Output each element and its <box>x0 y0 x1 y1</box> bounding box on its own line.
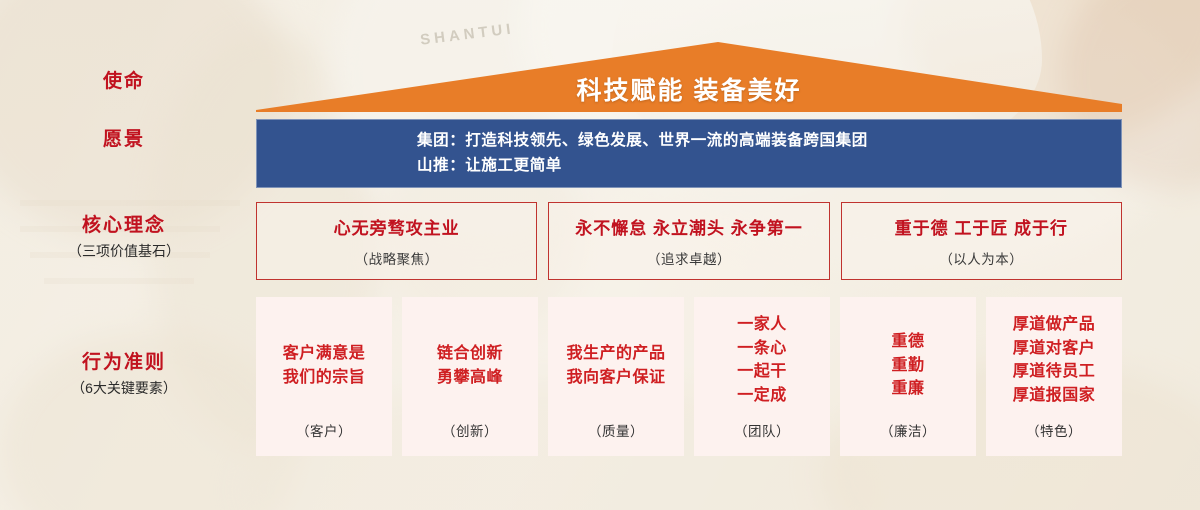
conduct-line: 重廉 <box>891 377 924 401</box>
row-label-conduct-main: 行为准则 <box>6 351 242 375</box>
conduct-line: 厚道报国家 <box>1013 384 1096 408</box>
row-label-vision-main: 愿景 <box>6 128 242 152</box>
conduct-card-subtitle: （客户） <box>296 420 352 444</box>
mission-banner: 科技赋能 装备美好 <box>256 42 1122 114</box>
conduct-line: 链合创新 <box>437 342 503 366</box>
conduct-line: 厚道做产品 <box>1013 313 1096 337</box>
core-concept-title: 永不懈怠 永立潮头 永争第一 <box>575 214 802 239</box>
conduct-card-lines: 厚道做产品 厚道对客户 厚道待员工 厚道报国家 <box>990 311 1118 420</box>
conduct-card-lines: 重德 重勤 重廉 <box>844 311 972 420</box>
conduct-card[interactable]: 厚道做产品 厚道对客户 厚道待员工 厚道报国家 （特色） <box>986 297 1122 456</box>
conduct-card[interactable]: 链合创新 勇攀高峰 （创新） <box>402 297 538 456</box>
core-concept-subtitle: （以人为本） <box>939 248 1023 268</box>
conduct-line: 重勤 <box>891 354 924 378</box>
mission-banner-text-wrap: 科技赋能 装备美好 <box>256 42 1122 114</box>
row-label-conduct: 行为准则 （6大关键要素） <box>6 351 242 399</box>
row-label-conduct-sub: （6大关键要素） <box>6 378 242 399</box>
conduct-line: 客户满意是 <box>283 342 366 366</box>
conduct-line: 一起干 <box>737 360 787 384</box>
conduct-card-lines: 链合创新 勇攀高峰 <box>406 311 534 420</box>
row-label-mission: 使命 <box>6 70 242 94</box>
core-concept-card[interactable]: 心无旁骛攻主业 （战略聚焦） <box>256 202 537 280</box>
core-concept-card[interactable]: 重于德 工于匠 成于行 （以人为本） <box>841 202 1122 280</box>
core-concept-subtitle: （战略聚焦） <box>355 248 439 268</box>
vision-line-shantui: 山推：让施工更简单 <box>417 154 1121 178</box>
core-concept-title: 心无旁骛攻主业 <box>334 214 460 239</box>
conduct-card-lines: 一家人 一条心 一起干 一定成 <box>698 311 826 420</box>
conduct-line: 我向客户保证 <box>566 366 665 390</box>
conduct-row: 客户满意是 我们的宗旨 （客户） 链合创新 勇攀高峰 （创新） 我生产的产品 我… <box>256 297 1122 456</box>
conduct-line: 我们的宗旨 <box>283 366 366 390</box>
row-label-core-sub: （三项价值基石） <box>6 241 242 262</box>
row-label-vision: 愿景 <box>6 128 242 152</box>
conduct-line: 厚道对客户 <box>1013 337 1096 361</box>
conduct-card-subtitle: （创新） <box>442 420 498 444</box>
core-concept-subtitle: （追求卓越） <box>647 248 731 268</box>
conduct-card[interactable]: 一家人 一条心 一起干 一定成 （团队） <box>694 297 830 456</box>
core-concept-row: 心无旁骛攻主业 （战略聚焦） 永不懈怠 永立潮头 永争第一 （追求卓越） 重于德… <box>256 202 1122 280</box>
conduct-card-subtitle: （质量） <box>588 420 644 444</box>
row-label-core-main: 核心理念 <box>6 214 242 238</box>
core-concept-card[interactable]: 永不懈怠 永立潮头 永争第一 （追求卓越） <box>548 202 829 280</box>
mission-banner-text: 科技赋能 装备美好 <box>577 71 802 107</box>
conduct-line: 我生产的产品 <box>566 342 665 366</box>
row-label-mission-main: 使命 <box>6 70 242 94</box>
conduct-line: 一条心 <box>737 337 787 361</box>
conduct-card-lines: 客户满意是 我们的宗旨 <box>260 311 388 420</box>
row-label-core: 核心理念 （三项价值基石） <box>6 214 242 262</box>
conduct-card[interactable]: 重德 重勤 重廉 （廉洁） <box>840 297 976 456</box>
conduct-line: 厚道待员工 <box>1013 360 1096 384</box>
conduct-line: 勇攀高峰 <box>437 366 503 390</box>
vision-band: 集团：打造科技领先、绿色发展、世界一流的高端装备跨国集团 山推：让施工更简单 <box>256 119 1122 188</box>
conduct-card[interactable]: 我生产的产品 我向客户保证 （质量） <box>548 297 684 456</box>
conduct-card[interactable]: 客户满意是 我们的宗旨 （客户） <box>256 297 392 456</box>
vision-line-group: 集团：打造科技领先、绿色发展、世界一流的高端装备跨国集团 <box>417 129 1121 153</box>
conduct-card-subtitle: （团队） <box>734 420 790 444</box>
conduct-line: 一家人 <box>737 313 787 337</box>
conduct-card-subtitle: （廉洁） <box>880 420 936 444</box>
conduct-line: 重德 <box>891 330 924 354</box>
conduct-card-subtitle: （特色） <box>1026 420 1082 444</box>
conduct-card-lines: 我生产的产品 我向客户保证 <box>552 311 680 420</box>
conduct-line: 一定成 <box>737 384 787 408</box>
core-concept-title: 重于德 工于匠 成于行 <box>895 214 1068 239</box>
